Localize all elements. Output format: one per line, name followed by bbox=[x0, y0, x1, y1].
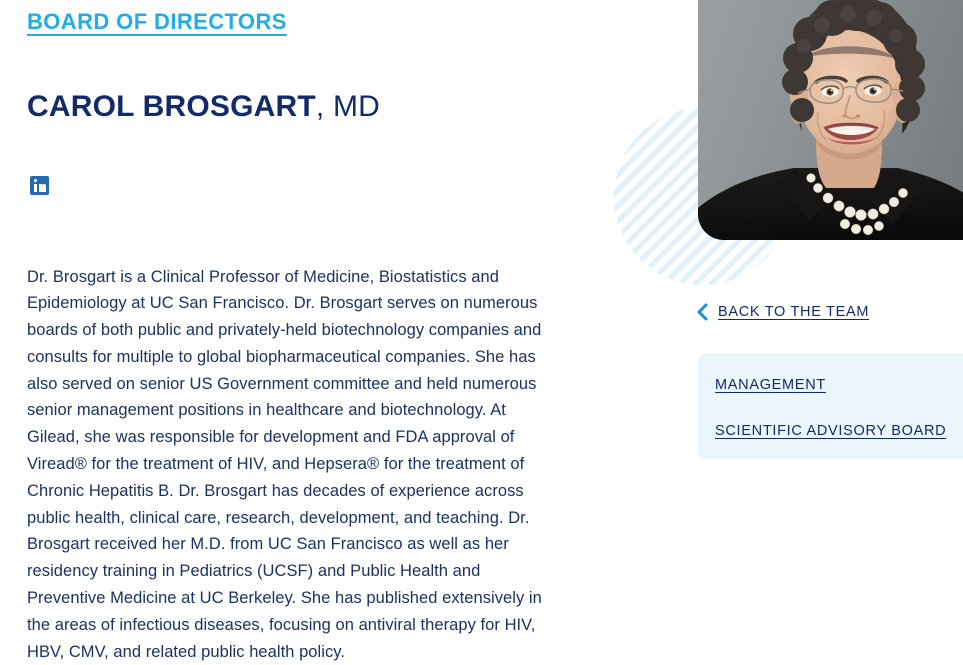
linkedin-icon-n-right bbox=[42, 184, 46, 192]
related-links-panel: MANAGEMENT SCIENTIFIC ADVISORY BOARD bbox=[698, 353, 963, 459]
person-credential: , MD bbox=[316, 90, 380, 123]
right-sidebar-column: BACK TO THE TEAM MANAGEMENT SCIENTIFIC A… bbox=[600, 0, 963, 648]
biography-text: Dr. Brosgart is a Clinical Professor of … bbox=[27, 264, 559, 665]
left-content-column: BOARD OF DIRECTORS CAROL BROSGART, MD Dr… bbox=[0, 0, 600, 648]
social-links bbox=[30, 176, 49, 195]
bio-page: BOARD OF DIRECTORS CAROL BROSGART, MD Dr… bbox=[0, 0, 963, 648]
person-name-main: CAROL BROSGART bbox=[27, 90, 316, 123]
portrait-photo bbox=[698, 0, 963, 240]
chevron-left-icon bbox=[696, 303, 708, 321]
related-link-scientific-advisory-board[interactable]: SCIENTIFIC ADVISORY BOARD bbox=[715, 423, 946, 439]
page-title: CAROL BROSGART, MD bbox=[27, 90, 380, 124]
breadcrumb-board-of-directors[interactable]: BOARD OF DIRECTORS bbox=[27, 9, 287, 35]
linkedin-icon-dot bbox=[34, 179, 37, 182]
back-to-team-label: BACK TO THE TEAM bbox=[718, 304, 869, 320]
linkedin-icon[interactable] bbox=[30, 176, 49, 195]
back-to-team-link[interactable]: BACK TO THE TEAM bbox=[696, 303, 869, 321]
related-link-management[interactable]: MANAGEMENT bbox=[715, 377, 826, 393]
linkedin-icon-stem bbox=[34, 184, 37, 192]
